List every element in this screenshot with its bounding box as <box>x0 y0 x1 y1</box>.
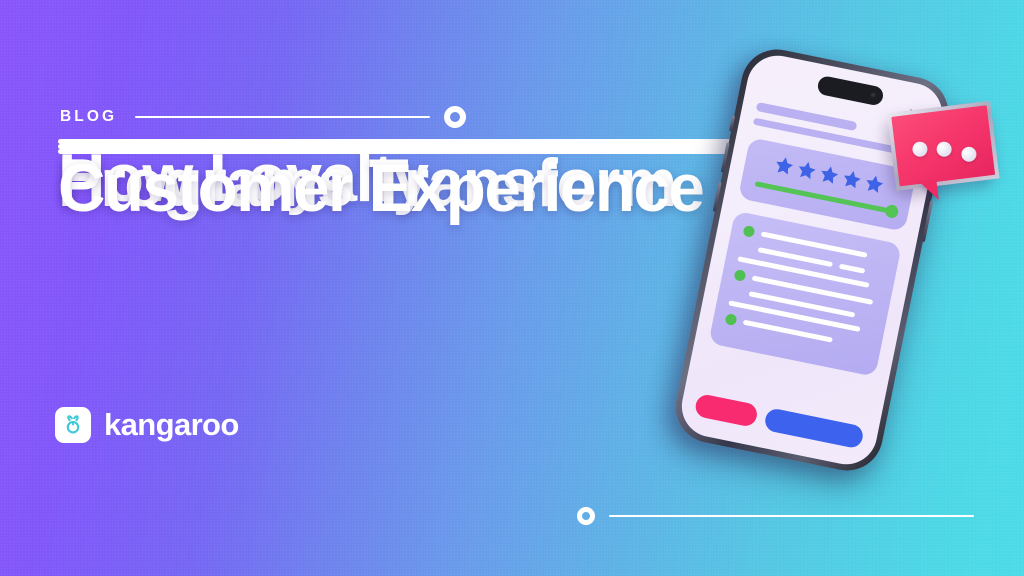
kangaroo-icon <box>55 407 91 443</box>
bubble-dot <box>911 140 928 157</box>
star-icon <box>818 163 842 187</box>
headline-line-3: Customer Experience <box>58 149 734 154</box>
checklist-card <box>708 211 902 377</box>
slider-knob[interactable] <box>884 204 899 219</box>
star-icon <box>772 154 796 178</box>
typing-indicator-icon <box>887 99 1015 220</box>
bubble-dot <box>935 140 952 157</box>
text-line <box>839 264 866 274</box>
phone-mockup <box>669 43 955 477</box>
phone-silent-switch <box>729 115 735 131</box>
action-buttons <box>694 393 865 449</box>
star-icon <box>840 168 864 192</box>
decoration-rule <box>609 515 974 517</box>
eyebrow-rule <box>135 116 430 118</box>
kicker-label: BLOG <box>60 108 117 126</box>
bubble-tail <box>906 180 939 204</box>
circle-outline-icon <box>577 507 595 525</box>
dynamic-island <box>816 75 884 107</box>
speech-bubble <box>887 101 1000 191</box>
page-title: How Loyalty Programs Transform Customer … <box>58 139 758 154</box>
phone-frame <box>669 43 955 477</box>
bullet-dot-icon <box>742 225 755 238</box>
star-icon <box>863 172 887 196</box>
bubble-dot <box>960 146 977 163</box>
secondary-action-button[interactable] <box>694 393 760 428</box>
primary-action-button[interactable] <box>763 407 864 449</box>
phone-volume-down-button <box>713 182 722 212</box>
brand-logo: kangaroo <box>55 407 239 443</box>
bullet-dot-icon <box>725 313 738 326</box>
star-icon <box>795 158 819 182</box>
bottom-decoration <box>577 507 974 525</box>
star-rating[interactable] <box>756 150 903 199</box>
eyebrow-row: BLOG <box>60 103 466 131</box>
bullet-dot-icon <box>733 269 746 282</box>
circle-outline-icon <box>444 106 466 128</box>
blog-header-banner: BLOG How Loyalty Programs Transform Cust… <box>0 0 1024 576</box>
brand-wordmark: kangaroo <box>104 407 239 443</box>
